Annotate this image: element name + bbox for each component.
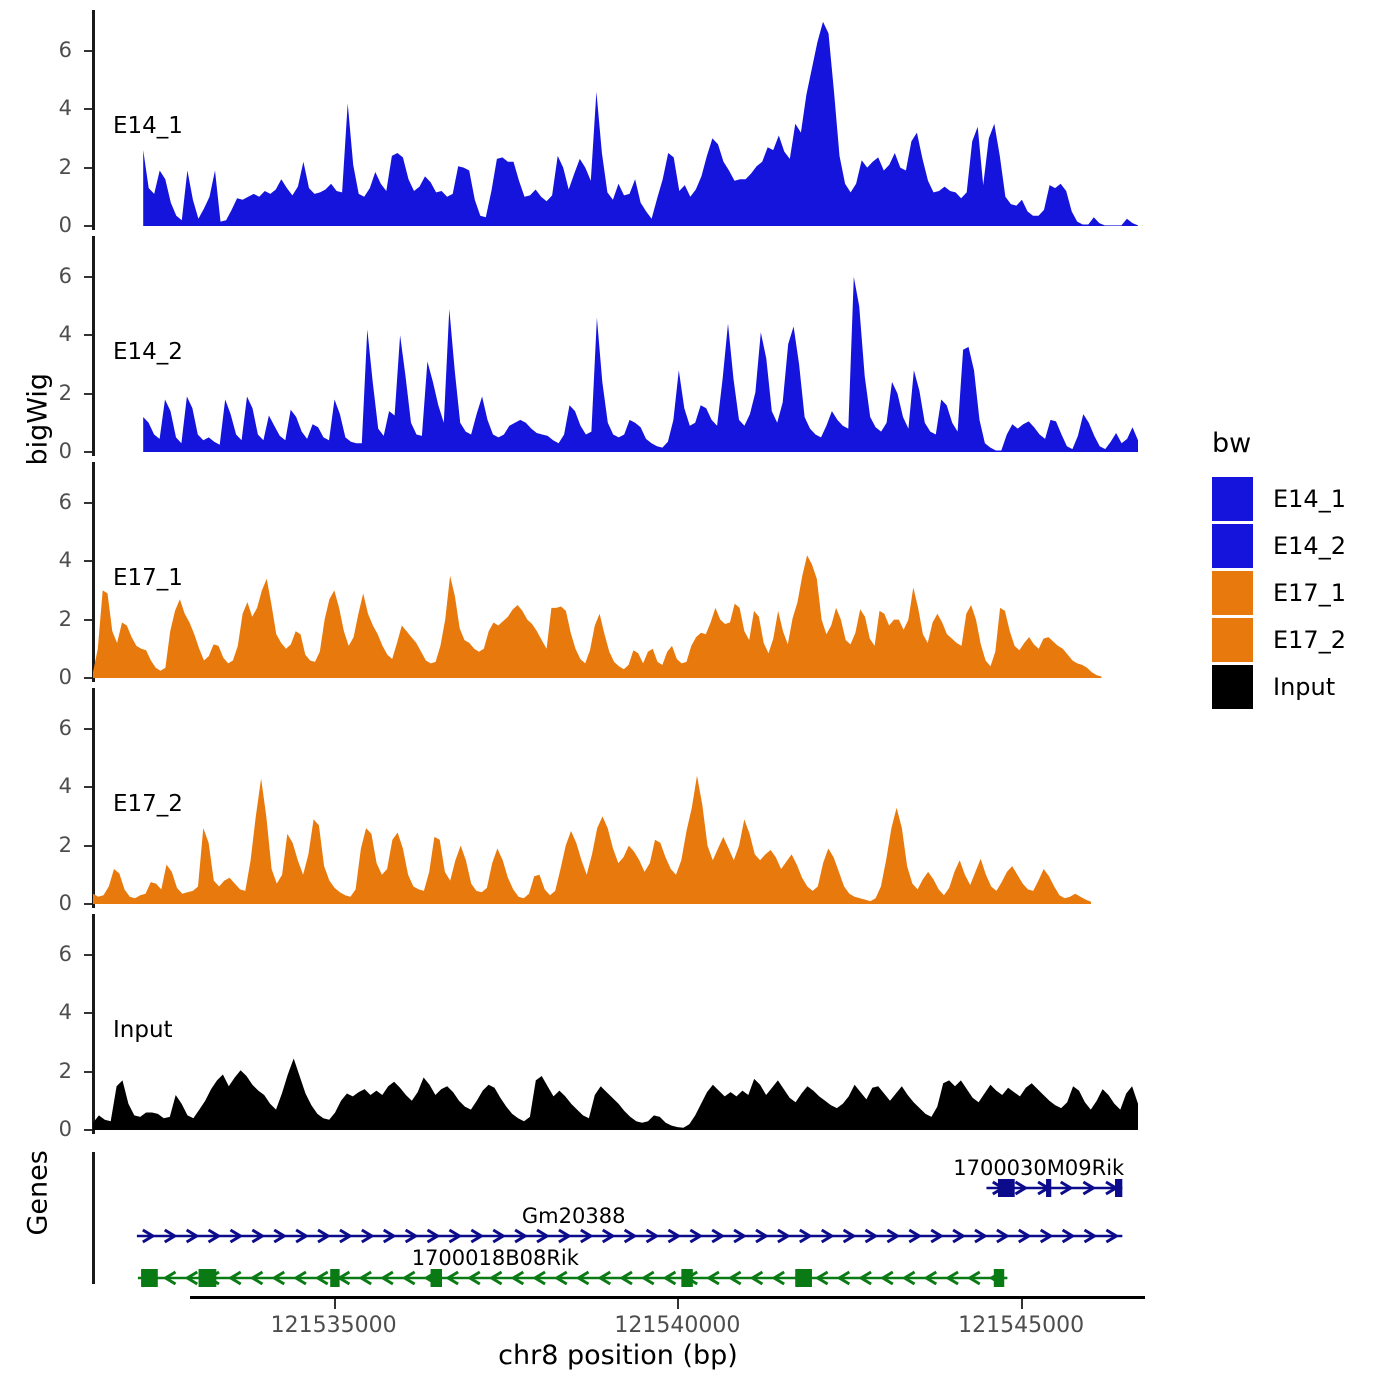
track-panel-e17_2: 0246E17_2 <box>0 688 1150 904</box>
y-tick-label: 4 <box>24 98 72 119</box>
y-tick <box>84 502 92 504</box>
y-tick <box>84 619 92 621</box>
y-axis-title-genes: Genes <box>23 1196 54 1236</box>
y-tick-label: 2 <box>24 383 72 404</box>
y-tick <box>84 451 92 453</box>
y-tick-label: 0 <box>24 893 72 914</box>
y-tick <box>84 560 92 562</box>
legend-title: bw <box>1212 428 1392 459</box>
y-tick-label: 4 <box>24 1002 72 1023</box>
legend-swatch-e14_2 <box>1212 524 1253 568</box>
y-tick-label: 4 <box>24 324 72 345</box>
legend-item-e17_2[interactable]: E17_2 <box>1212 616 1392 663</box>
y-tick-label: 0 <box>24 441 72 462</box>
track-panel-e14_2: 0246E14_2 <box>0 236 1150 452</box>
y-tick <box>84 677 92 679</box>
legend-label-input: Input <box>1273 673 1335 701</box>
y-tick <box>84 1129 92 1131</box>
y-tick <box>84 108 92 110</box>
legend-item-e14_2[interactable]: E14_2 <box>1212 522 1392 569</box>
gene-label-1700030m09rik: 1700030M09Rik <box>953 1156 1124 1180</box>
gene-label-gm20388: Gm20388 <box>522 1204 626 1228</box>
y-tick-label: 2 <box>24 157 72 178</box>
y-tick <box>84 728 92 730</box>
y-tick-label: 6 <box>24 40 72 61</box>
legend-item-e14_1[interactable]: E14_1 <box>1212 475 1392 522</box>
y-tick-label: 4 <box>24 550 72 571</box>
track-signal-input <box>93 914 1138 1130</box>
x-tick-label: 121540000 <box>614 1313 740 1338</box>
legend-label-e14_2: E14_2 <box>1273 532 1346 560</box>
y-tick <box>84 393 92 395</box>
y-tick-label: 6 <box>24 266 72 287</box>
y-tick <box>84 225 92 227</box>
y-tick-label: 2 <box>24 1061 72 1082</box>
y-tick-label: 0 <box>24 215 72 236</box>
y-tick-label: 2 <box>24 835 72 856</box>
y-tick <box>84 903 92 905</box>
legend-swatch-input <box>1212 665 1253 709</box>
legend-items: E14_1E14_2E17_1E17_2Input <box>1212 475 1392 710</box>
y-tick-label: 6 <box>24 718 72 739</box>
y-tick-label: 2 <box>24 609 72 630</box>
legend: bw E14_1E14_2E17_1E17_2Input <box>1212 428 1392 710</box>
y-tick <box>84 1071 92 1073</box>
y-tick <box>84 1012 92 1014</box>
y-tick <box>84 845 92 847</box>
y-tick <box>84 954 92 956</box>
legend-label-e17_2: E17_2 <box>1273 626 1346 654</box>
x-tick <box>334 1299 336 1309</box>
legend-swatch-e17_2 <box>1212 618 1253 662</box>
y-tick-label: 6 <box>24 944 72 965</box>
legend-item-e17_1[interactable]: E17_1 <box>1212 569 1392 616</box>
y-tick-label: 0 <box>24 1119 72 1140</box>
y-tick <box>84 786 92 788</box>
y-tick <box>84 167 92 169</box>
y-tick-label: 4 <box>24 776 72 797</box>
track-signal-e17_1 <box>93 462 1138 678</box>
x-tick-label: 121535000 <box>271 1313 397 1338</box>
track-signal-e17_2 <box>93 688 1138 904</box>
track-signal-e14_1 <box>93 10 1138 226</box>
x-tick-label: 121545000 <box>958 1313 1084 1338</box>
y-tick <box>84 50 92 52</box>
legend-label-e17_1: E17_1 <box>1273 579 1346 607</box>
legend-item-input[interactable]: Input <box>1212 663 1392 710</box>
track-panel-e14_1: 0246E14_1 <box>0 10 1150 226</box>
gene-label-1700018b08rik: 1700018B08Rik <box>412 1246 579 1270</box>
legend-swatch-e14_1 <box>1212 477 1253 521</box>
x-tick <box>1021 1299 1023 1309</box>
x-tick <box>677 1299 679 1309</box>
y-tick-label: 6 <box>24 492 72 513</box>
x-axis-title: chr8 position (bp) <box>93 1340 1143 1371</box>
y-tick <box>84 276 92 278</box>
track-panel-e17_1: 0246E17_1 <box>0 462 1150 678</box>
legend-label-e14_1: E14_1 <box>1273 485 1346 513</box>
legend-swatch-e17_1 <box>1212 571 1253 615</box>
y-tick-label: 0 <box>24 667 72 688</box>
track-signal-e14_2 <box>93 236 1138 452</box>
track-panel-input: 0246Input <box>0 914 1150 1130</box>
y-tick <box>84 334 92 336</box>
